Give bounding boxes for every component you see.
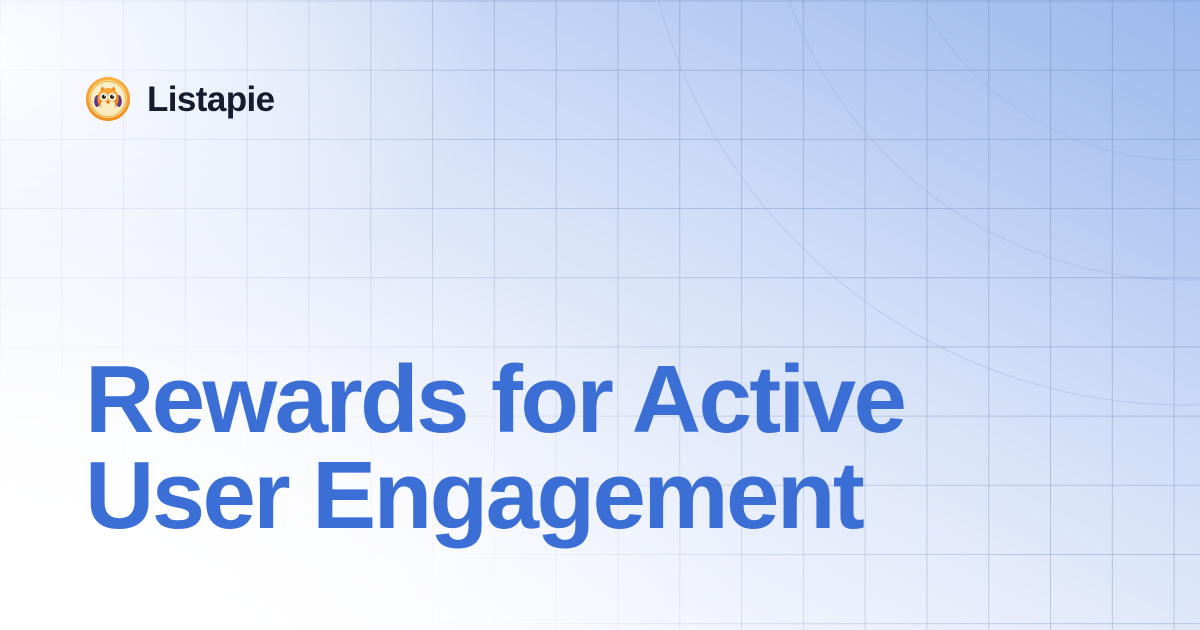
og-card: Listapie Rewards for Active User Engagem… [0,0,1200,630]
page-title: Rewards for Active User Engagement [85,352,1095,544]
brand-lockup[interactable]: Listapie [85,76,274,122]
brand-name: Listapie [147,82,274,117]
card-content: Listapie Rewards for Active User Engagem… [0,0,1200,630]
owl-mascot-circle-icon [85,76,131,122]
